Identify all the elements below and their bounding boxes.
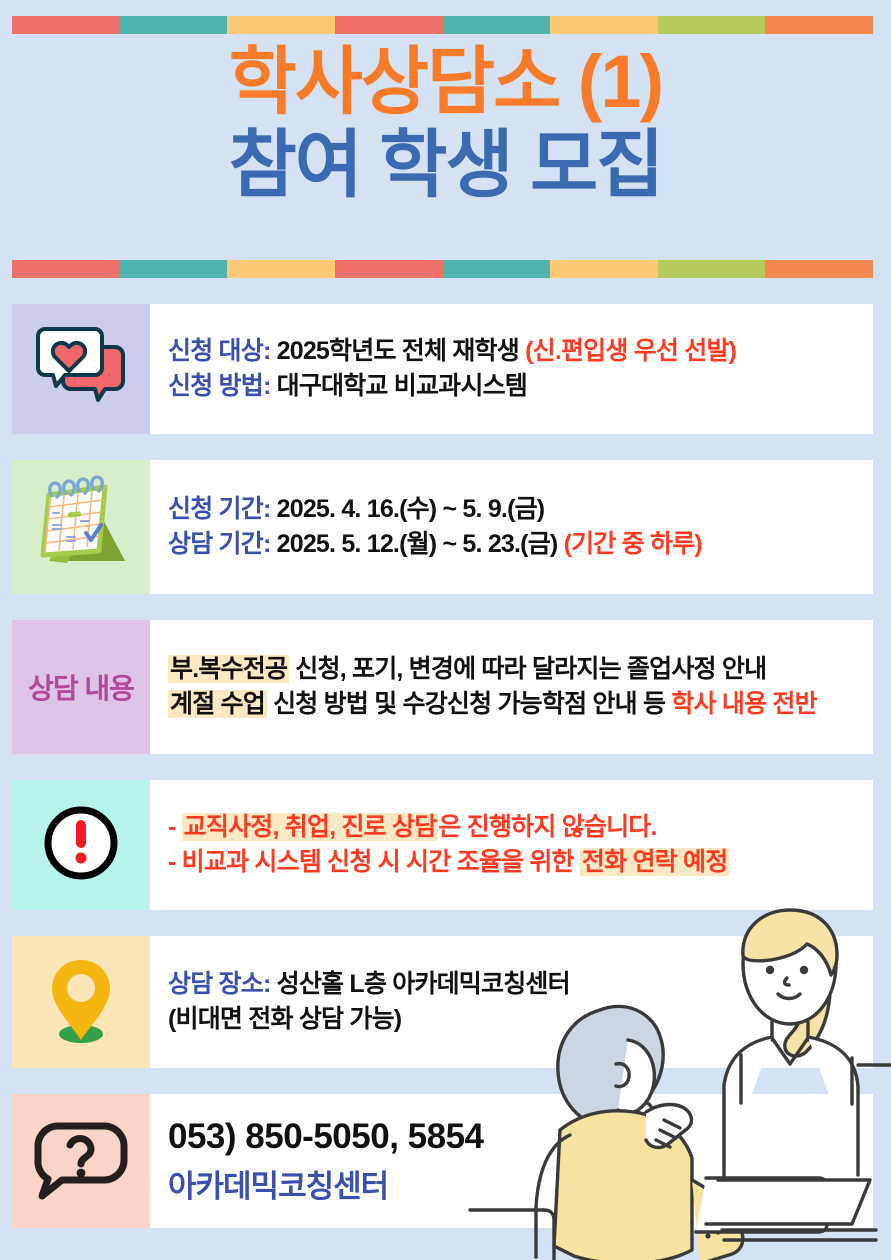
question-chat-bubble-icon-cell [12,1094,150,1228]
color-bar-segment-2 [120,260,228,278]
info-row-notice: - 교직사정, 취업, 진로 상담은 진행하지 않습니다. - 비교과 시스템 … [12,780,873,910]
notice-body-1: 은 진행하지 않습니다. [438,813,656,841]
application-method-value: 대구대학교 비교과시스템 [277,372,527,400]
color-bar-segment-2 [120,16,228,34]
place-line-2: (비대면 전화 상담 가능) [168,1002,863,1038]
color-bar-segment-1 [12,260,120,278]
application-period-value: 2025. 4. 16.(수) ~ 5. 9.(금) [277,495,545,523]
exclamation-circle-icon [38,800,124,891]
color-bar-segment-6 [550,16,658,34]
color-bar-segment-8 [765,16,873,34]
color-bar-segment-8 [765,260,873,278]
info-row-period: 신청 기간: 2025. 4. 16.(수) ~ 5. 9.(금) 상담 기간:… [12,460,873,594]
place-text-cell: 상담 장소: 성산홀 L층 아카데믹코칭센터 (비대면 전화 상담 가능) [150,936,873,1068]
color-bar-segment-5 [443,16,551,34]
info-row-application: 신청 대상: 2025학년도 전체 재학생 (신.편입생 우선 선발) 신청 방… [12,304,873,434]
info-row-place: 상담 장소: 성산홀 L층 아카데믹코칭센터 (비대면 전화 상담 가능) [12,936,873,1068]
question-chat-bubble-icon [34,1116,128,1207]
counseling-period-label: 상담 기간: [168,530,277,558]
map-pin-icon [41,952,121,1053]
place-note: (비대면 전화 상담 가능) [168,1005,401,1033]
application-method-line: 신청 방법: 대구대학교 비교과시스템 [168,369,863,405]
counseling-content-keyword-2: 계절 수업 [168,690,267,718]
desk-calendar-icon [27,475,135,580]
counseling-content-text-cell: 부.복수전공 신청, 포기, 변경에 따라 달라지는 졸업사정 안내 계절 수업… [150,620,873,754]
color-bar-segment-5 [443,260,551,278]
title-line-1: 학사상담소 (1) [0,44,891,119]
poster-title: 학사상담소 (1) 참여 학생 모집 [0,44,891,203]
period-text-cell: 신청 기간: 2025. 4. 16.(수) ~ 5. 9.(금) 상담 기간:… [150,460,873,594]
color-bar-segment-4 [335,16,443,34]
desk-calendar-icon-cell [12,460,150,594]
color-bar-segment-1 [12,16,120,34]
notice-bullet-1: - [168,813,182,841]
notice-keyword-1: 교직사정, 취업, 진로 상담 [182,813,439,841]
counseling-content-line-2: 계절 수업 신청 방법 및 수강신청 가능학점 안내 등 학사 내용 전반 [168,687,863,723]
application-period-line: 신청 기간: 2025. 4. 16.(수) ~ 5. 9.(금) [168,492,863,528]
color-bar-segment-7 [658,16,766,34]
counseling-content-line-1: 부.복수전공 신청, 포기, 변경에 따라 달라지는 졸업사정 안내 [168,652,863,688]
notice-line-1: - 교직사정, 취업, 진로 상담은 진행하지 않습니다. [168,810,863,846]
exclamation-circle-icon-cell [12,780,150,910]
color-bar-segment-6 [550,260,658,278]
decorative-color-bar-bottom [12,260,873,278]
counseling-content-body-2: 신청 방법 및 수강신청 가능학점 안내 등 [267,690,671,718]
application-text-cell: 신청 대상: 2025학년도 전체 재학생 (신.편입생 우선 선발) 신청 방… [150,304,873,434]
application-target-value: 2025학년도 전체 재학생 [277,337,525,365]
color-bar-segment-3 [227,260,335,278]
notice-body-2: - 비교과 시스템 신청 시 시간 조율을 위한 [168,848,580,876]
title-line-2: 참여 학생 모집 [0,127,891,202]
place-line-1: 상담 장소: 성산홀 L층 아카데믹코칭센터 [168,967,863,1003]
counseling-period-line: 상담 기간: 2025. 5. 12.(월) ~ 5. 23.(금) (기간 중… [168,527,863,563]
info-row-contact: 053) 850-5050, 5854 아카데믹코칭센터 [12,1094,873,1228]
application-period-label: 신청 기간: [168,495,277,523]
counseling-period-note: (기간 중 하루) [564,530,702,558]
notice-text-cell: - 교직사정, 취업, 진로 상담은 진행하지 않습니다. - 비교과 시스템 … [150,780,873,910]
decorative-color-bar-top [12,16,873,34]
counseling-content-label: 상담 내용 [12,620,150,754]
contact-phone-number: 053) 850-5050, 5854 [168,1117,863,1161]
application-target-line: 신청 대상: 2025학년도 전체 재학생 (신.편입생 우선 선발) [168,334,863,370]
color-bar-segment-7 [658,260,766,278]
heart-chat-bubble-icon-cell [12,304,150,434]
map-pin-icon-cell [12,936,150,1068]
contact-center-name: 아카데믹코칭센터 [168,1161,863,1206]
heart-chat-bubble-icon [33,321,129,418]
place-value: 성산홀 L층 아카데믹코칭센터 [277,970,570,998]
application-method-label: 신청 방법: [168,372,277,400]
poster-root: 학사상담소 (1) 참여 학생 모집 신청 대상: 2025학년도 전체 재학생… [0,0,891,1260]
place-label: 상담 장소: [168,970,277,998]
color-bar-segment-4 [335,260,443,278]
counseling-content-keyword-1: 부.복수전공 [168,655,289,683]
application-target-label: 신청 대상: [168,337,277,365]
counseling-period-value: 2025. 5. 12.(월) ~ 5. 23.(금) [277,530,564,558]
counseling-content-body-1: 신청, 포기, 변경에 따라 달라지는 졸업사정 안내 [289,655,766,683]
application-target-note: (신.편입생 우선 선발) [525,337,736,365]
notice-line-2: - 비교과 시스템 신청 시 시간 조율을 위한 전화 연락 예정 [168,845,863,881]
counseling-content-emphasis: 학사 내용 전반 [671,690,817,718]
notice-keyword-2: 전화 연락 예정 [580,848,730,876]
contact-text-cell: 053) 850-5050, 5854 아카데믹코칭센터 [150,1094,873,1228]
info-row-counseling-content: 상담 내용 부.복수전공 신청, 포기, 변경에 따라 달라지는 졸업사정 안내… [12,620,873,754]
color-bar-segment-3 [227,16,335,34]
